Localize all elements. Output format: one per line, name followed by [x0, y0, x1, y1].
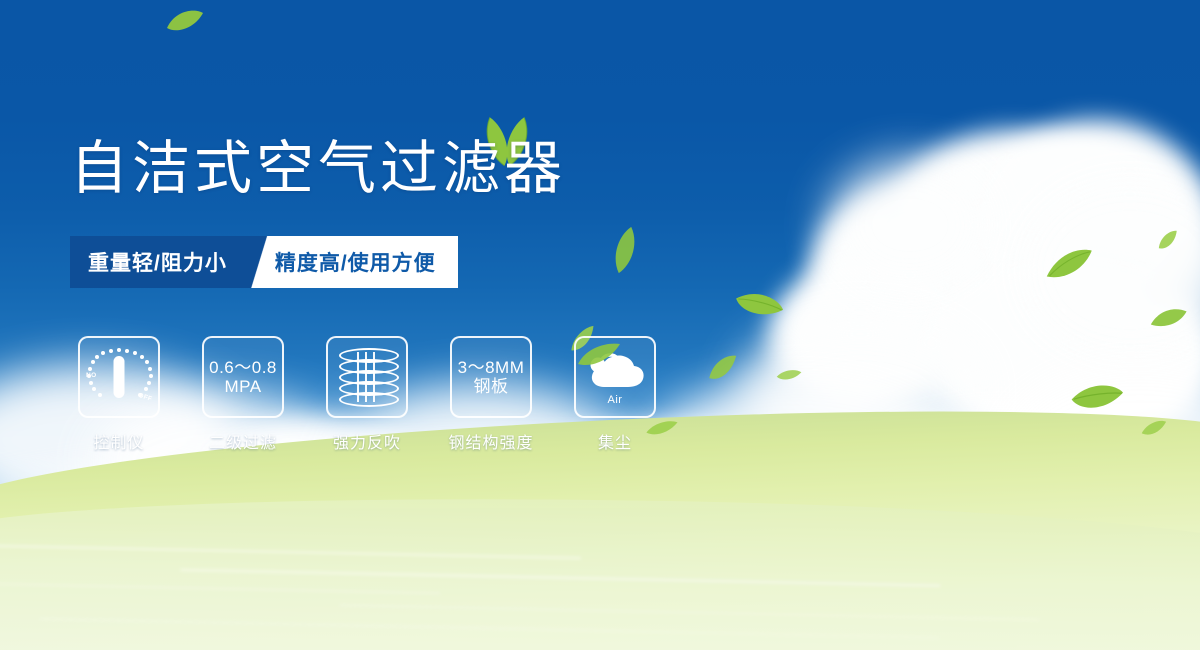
feature-icon-box: 0.6～0.8 MPA — [202, 336, 284, 418]
air-label: Air — [584, 394, 646, 406]
gauge-label-off: OFF — [137, 392, 153, 403]
steel-material: 钢板 — [458, 377, 525, 396]
feature-label: 集尘 — [598, 429, 632, 453]
feature-item-dust[interactable]: Air 集尘 — [566, 336, 664, 453]
gauge-label-no: NO — [86, 372, 97, 379]
feature-label: 控制仪 — [93, 429, 144, 453]
air-cloud-icon: Air — [584, 349, 646, 405]
filter-rings-icon — [339, 348, 395, 406]
subtitle-left: 重量轻/阻力小 — [70, 236, 247, 288]
pressure-unit: MPA — [209, 377, 277, 396]
feature-icon-box: Air — [574, 336, 656, 418]
feature-label: 二级过滤 — [209, 429, 277, 453]
steel-thickness: 3～8MM — [458, 358, 525, 377]
subtitle-bar: 重量轻/阻力小 精度高/使用方便 — [70, 236, 458, 288]
feature-item-two-stage[interactable]: 0.6～0.8 MPA 二级过滤 — [194, 336, 292, 453]
feature-label: 钢结构强度 — [448, 429, 533, 453]
feature-list: NO OFF 控制仪 0.6～0.8 MPA 二级过滤 — [70, 336, 664, 453]
feature-label: 强力反吹 — [333, 429, 401, 453]
page-title: 自洁式空气过滤器 — [70, 140, 566, 198]
steel-text-icon: 3～8MM 钢板 — [458, 358, 525, 396]
pressure-text-icon: 0.6～0.8 MPA — [209, 358, 277, 396]
leaf-icon — [576, 342, 622, 368]
subtitle-divider — [247, 236, 273, 288]
gauge-dial-icon: NO OFF — [87, 347, 151, 407]
hero-banner: 自洁式空气过滤器 重量轻/阻力小 精度高/使用方便 — [0, 0, 1200, 650]
feature-item-controller[interactable]: NO OFF 控制仪 — [70, 336, 168, 453]
pressure-value: 0.6～0.8 — [209, 358, 277, 377]
subtitle-right: 精度高/使用方便 — [273, 236, 458, 288]
feature-item-steel[interactable]: 3～8MM 钢板 钢结构强度 — [442, 336, 540, 453]
feature-item-back-blow[interactable]: 强力反吹 — [318, 336, 416, 453]
banner-content: 自洁式空气过滤器 重量轻/阻力小 精度高/使用方便 — [0, 0, 1200, 650]
feature-icon-box — [326, 336, 408, 418]
feature-icon-box: NO OFF — [78, 336, 160, 418]
feature-icon-box: 3～8MM 钢板 — [450, 336, 532, 418]
